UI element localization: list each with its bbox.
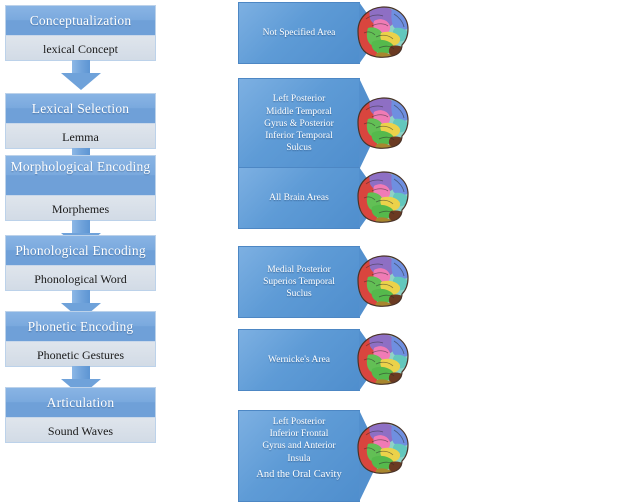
brain-area-line-1: Left Posterior <box>256 416 341 428</box>
brain-area-line-4: Insula <box>256 453 341 465</box>
brain-area-label: Left Posterior Inferior Frontal Gyrus an… <box>238 410 360 502</box>
stage-title-morphological-encoding: Morphological Encoding <box>5 155 156 195</box>
brain-area-line-1: Left Posterior <box>264 93 334 105</box>
brain-area-label: Wernicke's Area <box>238 329 360 391</box>
brain-area-label: All Brain Areas <box>238 167 360 229</box>
stage-title-articulation: Articulation <box>5 387 156 417</box>
flow-arrow-1 <box>61 60 101 90</box>
stage-output-morphological-encoding: Morphemes <box>5 195 156 221</box>
stage-box-conceptualization[interactable]: Conceptualization lexical Concept <box>5 5 156 61</box>
brain-area-banner-medial-posterior-superior-temporal-sulcus[interactable]: Medial Posterior Superios Temporal Suclu… <box>238 246 410 318</box>
brain-area-label: Medial Posterior Superios Temporal Suclu… <box>238 246 360 318</box>
stage-box-phonological-encoding[interactable]: Phonological Encoding Phonological Word <box>5 235 156 291</box>
brain-area-line-1: Wernicke's Area <box>268 354 330 366</box>
brain-area-line-5: And the Oral Cavity <box>256 469 341 481</box>
brain-area-line-2: Superios Temporal <box>263 276 335 288</box>
brain-area-line-1: Not Specified Area <box>263 27 336 39</box>
arrow-shaft <box>72 290 90 304</box>
brain-area-label: Not Specified Area <box>238 2 360 64</box>
brain-area-label: Left Posterior Middle Temporal Gyrus & P… <box>238 78 360 170</box>
brain-illustration-icon <box>346 93 412 155</box>
stage-output-phonological-encoding: Phonological Word <box>5 265 156 291</box>
stage-box-phonetic-encoding[interactable]: Phonetic Encoding Phonetic Gestures <box>5 311 156 367</box>
brain-area-line-3: Gyrus & Posterior <box>264 118 334 130</box>
brain-area-line-1: Medial Posterior <box>263 264 335 276</box>
brain-area-banner-posterior-middle-temporal-gyrus[interactable]: Left Posterior Middle Temporal Gyrus & P… <box>238 78 410 170</box>
stage-title-phonetic-encoding: Phonetic Encoding <box>5 311 156 341</box>
brain-area-line-5: Sulcus <box>264 142 334 154</box>
brain-area-column: Not Specified Area <box>238 0 638 480</box>
diagram-canvas: Conceptualization lexical Concept Lexica… <box>0 0 640 480</box>
stage-box-morphological-encoding[interactable]: Morphological Encoding Morphemes <box>5 155 156 221</box>
brain-area-banner-wernickes-area[interactable]: Wernicke's Area <box>238 329 410 391</box>
brain-area-line-2: Inferior Frontal <box>256 428 341 440</box>
brain-area-banner-all-brain-areas[interactable]: All Brain Areas <box>238 167 410 229</box>
stage-output-conceptualization: lexical Concept <box>5 35 156 61</box>
speech-production-flowchart: Conceptualization lexical Concept Lexica… <box>5 0 160 480</box>
stage-box-lexical-selection[interactable]: Lexical Selection Lemma <box>5 93 156 149</box>
stage-title-lexical-selection: Lexical Selection <box>5 93 156 123</box>
arrow-shaft <box>72 60 90 74</box>
brain-illustration-icon <box>346 251 412 313</box>
stage-output-phonetic-encoding: Phonetic Gestures <box>5 341 156 367</box>
brain-area-banner-not-specified-area[interactable]: Not Specified Area <box>238 2 410 64</box>
brain-illustration-icon <box>346 167 412 229</box>
brain-area-line-2: Middle Temporal <box>264 106 334 118</box>
brain-area-banner-inferior-frontal-gyrus-anterior-insula[interactable]: Left Posterior Inferior Frontal Gyrus an… <box>238 410 410 502</box>
brain-area-line-3: Gyrus and Anterior <box>256 440 341 452</box>
arrow-shaft <box>72 220 90 234</box>
arrow-shaft <box>72 366 90 380</box>
stage-title-conceptualization: Conceptualization <box>5 5 156 35</box>
stage-output-articulation: Sound Waves <box>5 417 156 443</box>
stage-box-articulation[interactable]: Articulation Sound Waves <box>5 387 156 443</box>
arrow-head <box>61 73 101 90</box>
brain-illustration-icon <box>346 418 412 480</box>
brain-area-line-3: Suclus <box>263 288 335 300</box>
brain-illustration-icon <box>346 2 412 64</box>
brain-illustration-icon <box>346 329 412 391</box>
stage-output-lexical-selection: Lemma <box>5 123 156 149</box>
brain-area-line-4: Inferior Temporal <box>264 130 334 142</box>
brain-area-line-1: All Brain Areas <box>269 192 329 204</box>
stage-title-phonological-encoding: Phonological Encoding <box>5 235 156 265</box>
